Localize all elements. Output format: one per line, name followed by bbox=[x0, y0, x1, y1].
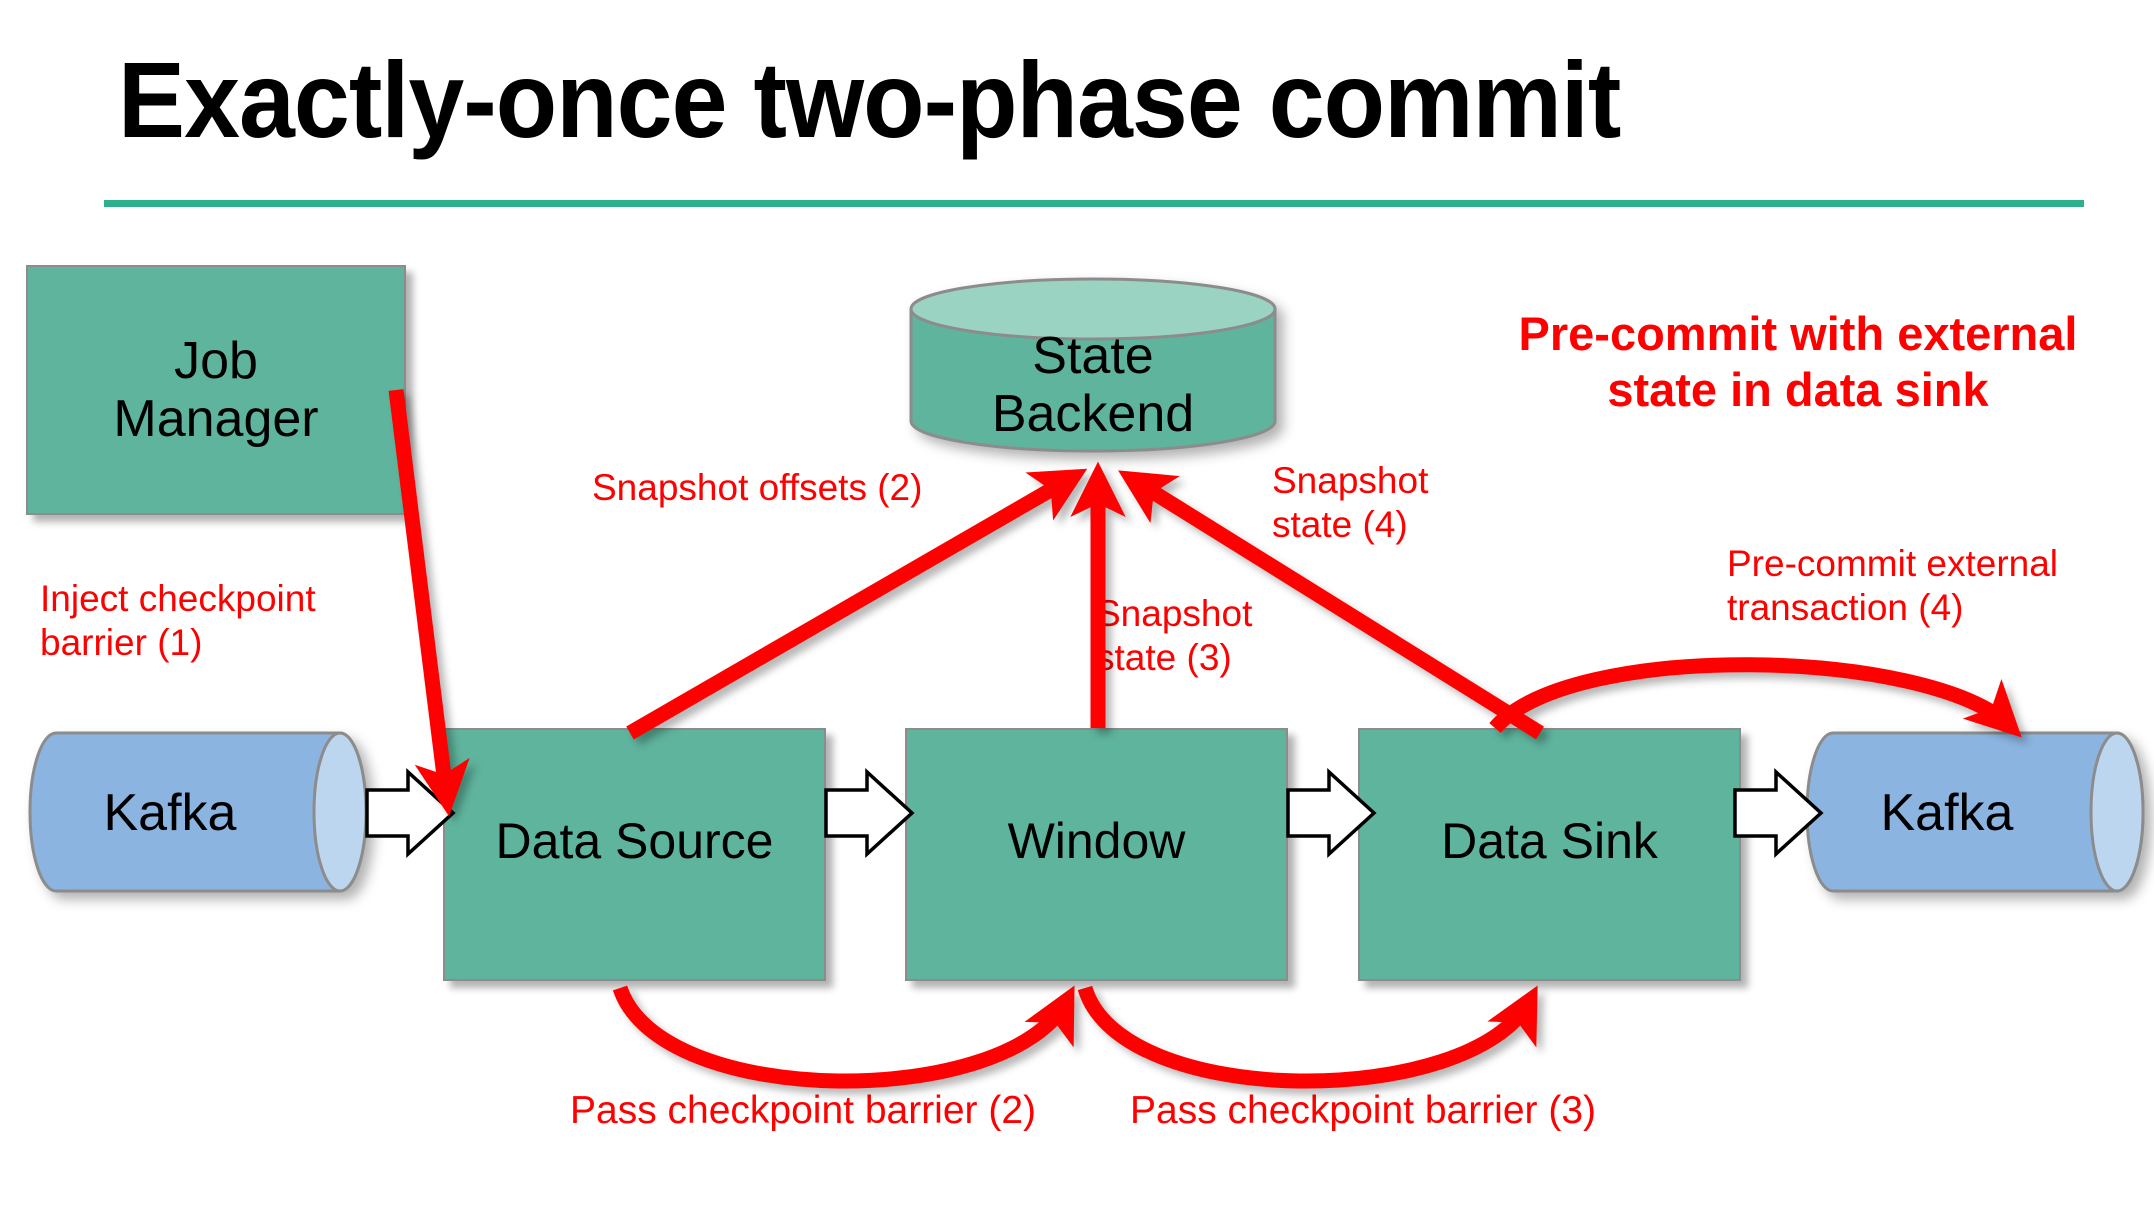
node-kafka-source[interactable]: Kafka bbox=[28, 730, 368, 895]
node-data-sink[interactable]: Data Sink bbox=[1358, 728, 1741, 981]
annotation-snapshot-offsets: Snapshot offsets (2) bbox=[592, 466, 1022, 510]
slide-canvas: Exactly-once two-phase commit Job Manage… bbox=[0, 0, 2154, 1212]
node-job-manager[interactable]: Job Manager bbox=[26, 265, 406, 515]
dataflow-chevron-kafka-to-source bbox=[367, 772, 453, 854]
annotation-precommit-external-transaction: Pre-commit external transaction (4) bbox=[1727, 542, 2147, 629]
annotation-pass-checkpoint-barrier-2: Pass checkpoint barrier (2) bbox=[570, 1088, 1090, 1134]
node-job-manager-label: Job Manager bbox=[113, 332, 318, 448]
arrow-precommit-external-transaction bbox=[1495, 665, 2010, 728]
node-kafka-sink[interactable]: Kafka bbox=[1805, 730, 2145, 895]
node-state-backend-label: State Backend bbox=[908, 322, 1278, 448]
node-kafka-source-label: Kafka bbox=[28, 730, 312, 895]
title-underline-rule bbox=[104, 200, 2084, 207]
annotation-pass-checkpoint-barrier-3: Pass checkpoint barrier (3) bbox=[1130, 1088, 1650, 1134]
node-data-source[interactable]: Data Source bbox=[443, 728, 826, 981]
dataflow-chevron-source-to-window bbox=[826, 772, 912, 854]
page-title: Exactly-once two-phase commit bbox=[118, 40, 1885, 160]
annotation-snapshot-state-4: Snapshot state (4) bbox=[1272, 459, 1532, 546]
node-data-sink-label: Data Sink bbox=[1441, 813, 1658, 869]
annotation-inject-checkpoint-barrier: Inject checkpoint barrier (1) bbox=[40, 577, 460, 664]
node-data-source-label: Data Source bbox=[496, 813, 774, 869]
node-state-backend[interactable]: State Backend bbox=[908, 276, 1278, 454]
arrow-snapshot-offsets bbox=[630, 477, 1073, 733]
annotation-snapshot-state-3: Snapshot state (3) bbox=[1096, 592, 1356, 679]
node-window[interactable]: Window bbox=[905, 728, 1288, 981]
arrow-pass-checkpoint-barrier-2 bbox=[620, 988, 1067, 1081]
annotation-precommit-callout: Pre-commit with external state in data s… bbox=[1468, 306, 2128, 419]
arrow-pass-checkpoint-barrier-3 bbox=[1085, 988, 1530, 1081]
node-window-label: Window bbox=[1008, 813, 1186, 869]
node-kafka-sink-label: Kafka bbox=[1805, 730, 2089, 895]
